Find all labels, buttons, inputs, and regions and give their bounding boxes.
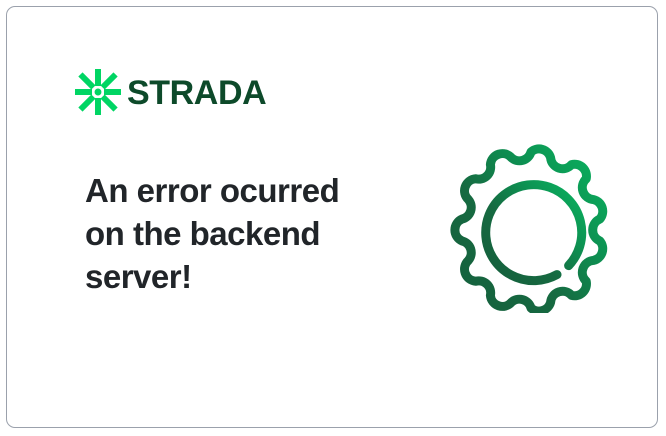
asterisk-starburst-icon: [75, 69, 121, 115]
gear-illustration: [447, 143, 615, 313]
gear-cog-icon: [447, 143, 615, 313]
error-card: STRADA An error ocurred on the backend s…: [6, 6, 658, 428]
brand-wordmark: STRADA: [127, 76, 266, 110]
error-message-line-3: server!: [85, 255, 385, 298]
error-message: An error ocurred on the backend server!: [85, 169, 385, 298]
error-page: STRADA An error ocurred on the backend s…: [0, 0, 666, 436]
brand-logo[interactable]: STRADA: [75, 69, 266, 115]
error-message-line-1: An error ocurred: [85, 169, 385, 212]
error-message-line-2: on the backend: [85, 212, 385, 255]
